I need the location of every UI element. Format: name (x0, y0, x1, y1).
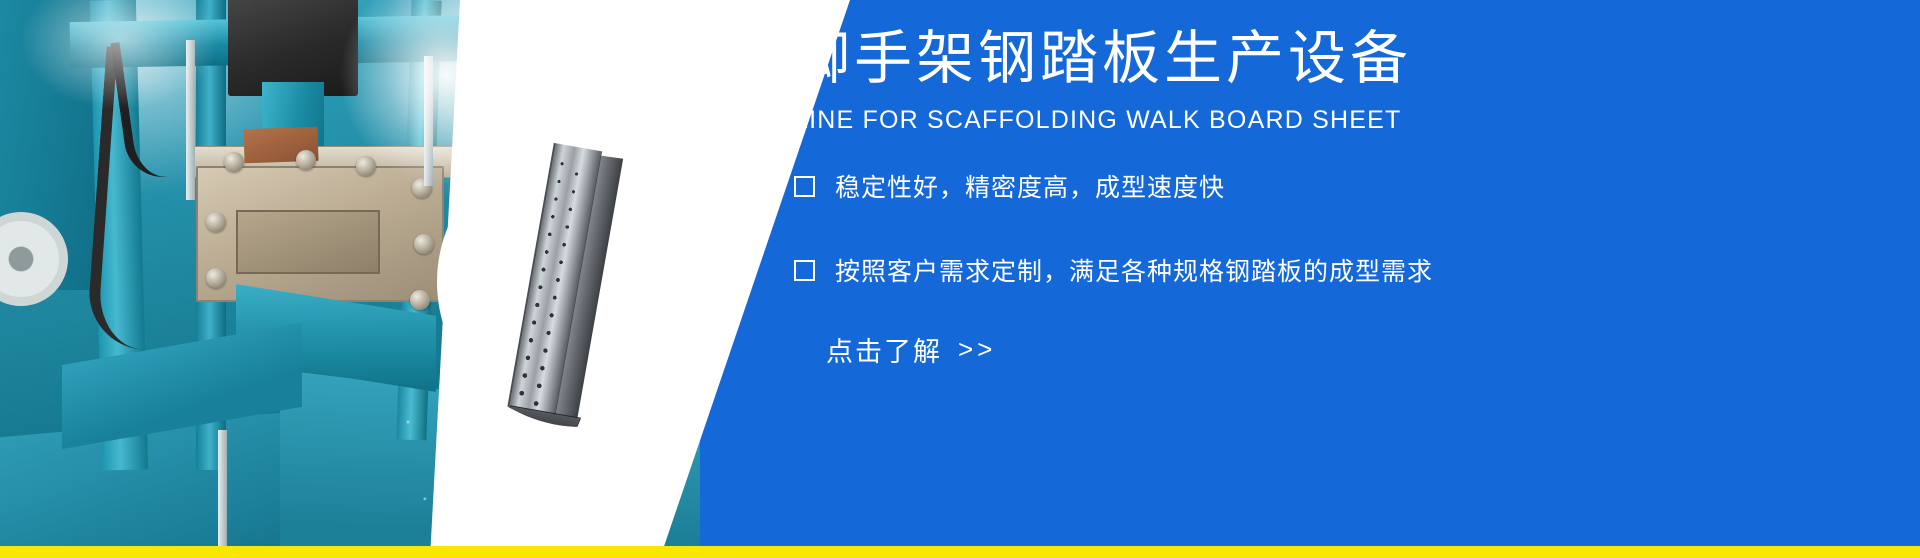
feature-list: 稳定性好，精密度高，成型速度快 按照客户需求定制，满足各种规格钢踏板的成型需求 (794, 168, 1794, 336)
learn-more-label: 点击了解 (826, 330, 942, 369)
machine-bolt (206, 268, 226, 288)
machine-bolt (206, 212, 226, 232)
banner-subtitle: LINE FOR SCAFFOLDING WALK BOARD SHEET (794, 106, 1401, 135)
square-bullet-icon (794, 260, 815, 281)
steel-plank-product (505, 143, 625, 427)
machine-bolt (296, 150, 316, 170)
feature-item: 稳定性好，精密度高，成型速度快 (794, 168, 1794, 204)
machine-threaded-rod (186, 40, 195, 200)
machine-threaded-rod (424, 56, 433, 186)
double-chevron-right-icon: >> (958, 334, 996, 365)
machine-bolt (410, 290, 430, 310)
banner-title: 脚手架钢踏板生产设备 (792, 28, 1412, 91)
text-panel: 脚手架钢踏板生产设备 LINE FOR SCAFFOLDING WALK BOA… (780, 0, 1920, 546)
machine-bolt (224, 152, 244, 172)
feature-text: 稳定性好，精密度高，成型速度快 (835, 168, 1225, 204)
learn-more-button[interactable]: 点击了解 >> (826, 330, 996, 369)
square-bullet-icon (794, 176, 815, 197)
machine-die-cavity (236, 210, 380, 274)
feature-text: 按照客户需求定制，满足各种规格钢踏板的成型需求 (835, 252, 1433, 288)
product-circle (437, 137, 727, 427)
machine-bolt (414, 234, 434, 254)
feature-item: 按照客户需求定制，满足各种规格钢踏板的成型需求 (794, 252, 1794, 288)
machine-threaded-rod (218, 430, 227, 550)
promo-banner: 脚手架钢踏板生产设备 LINE FOR SCAFFOLDING WALK BOA… (0, 0, 1920, 558)
bottom-accent-bar (0, 546, 1920, 558)
machine-bolt (356, 156, 376, 176)
